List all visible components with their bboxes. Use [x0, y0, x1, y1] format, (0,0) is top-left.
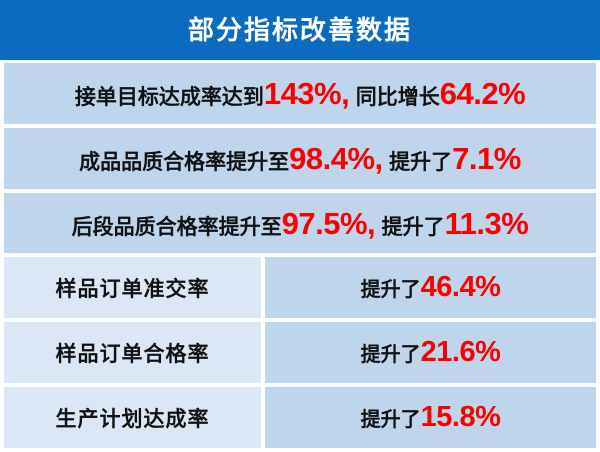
metric-secondary-value: 7.1% — [452, 143, 521, 174]
indicator-improvement-board: 部分指标改善数据 接单目标达成率达到143%,同比增长64.2% 成品品质合格率… — [0, 0, 600, 452]
table-row: 接单目标达成率达到143%,同比增长64.2% — [4, 63, 596, 124]
metric-prefix-text: 提升了 — [361, 410, 421, 430]
metric-mid-text: 同比增长 — [356, 87, 440, 108]
metric-sentence: 接单目标达成率达到143%,同比增长64.2% — [75, 78, 525, 109]
metric-separator: , — [341, 78, 356, 109]
metric-mid-text: 提升了 — [389, 152, 452, 173]
metric-separator: , — [375, 143, 390, 174]
metric-lead-text: 后段品质合格率提升至 — [72, 217, 282, 238]
rows-container: 接单目标达成率达到143%,同比增长64.2% 成品品质合格率提升至98.4%,… — [0, 63, 600, 452]
metric-label: 样品订单合格率 — [56, 338, 210, 368]
metric-primary-value: 98.4% — [289, 143, 374, 174]
table-row: 成品品质合格率提升至98.4%,提升了7.1% — [4, 128, 596, 189]
table-row: 样品订单准交率 提升了46.4% — [4, 257, 596, 318]
page-title: 部分指标改善数据 — [188, 17, 412, 43]
metric-value: 15.8% — [421, 403, 501, 432]
metric-sentence: 成品品质合格率提升至98.4%,提升了7.1% — [79, 143, 521, 174]
table-row: 后段品质合格率提升至97.5%,提升了11.3% — [4, 193, 596, 254]
metric-secondary-value: 11.3% — [445, 208, 529, 239]
metric-value-cell: 提升了46.4% — [265, 257, 596, 318]
metric-sentence: 提升了15.8% — [361, 403, 501, 432]
title-banner: 部分指标改善数据 — [0, 0, 600, 60]
metric-sentence: 提升了21.6% — [361, 338, 501, 367]
metric-sentence: 提升了46.4% — [361, 273, 501, 302]
metric-value: 21.6% — [421, 338, 501, 367]
metric-value-cell: 提升了15.8% — [265, 387, 596, 448]
table-row: 样品订单合格率 提升了21.6% — [4, 322, 596, 383]
metric-value: 46.4% — [421, 273, 501, 302]
metric-mid-text: 提升了 — [382, 217, 445, 238]
metric-label-cell: 样品订单准交率 — [4, 257, 261, 318]
metric-lead-text: 成品品质合格率提升至 — [79, 152, 289, 173]
metric-label-cell: 样品订单合格率 — [4, 322, 261, 383]
metric-primary-value: 97.5% — [282, 208, 367, 239]
metric-primary-value: 143% — [264, 78, 341, 109]
metric-label-cell: 生产计划达成率 — [4, 387, 261, 448]
metric-prefix-text: 提升了 — [361, 280, 421, 300]
metric-value-cell: 提升了21.6% — [265, 322, 596, 383]
metric-sentence: 后段品质合格率提升至97.5%,提升了11.3% — [72, 208, 529, 239]
metric-lead-text: 接单目标达成率达到 — [75, 87, 264, 108]
metric-prefix-text: 提升了 — [361, 345, 421, 365]
table-row: 生产计划达成率 提升了15.8% — [4, 387, 596, 448]
metric-label: 样品订单准交率 — [56, 273, 210, 303]
metric-label: 生产计划达成率 — [56, 403, 210, 433]
metric-secondary-value: 64.2% — [440, 78, 525, 109]
metric-separator: , — [367, 208, 382, 239]
